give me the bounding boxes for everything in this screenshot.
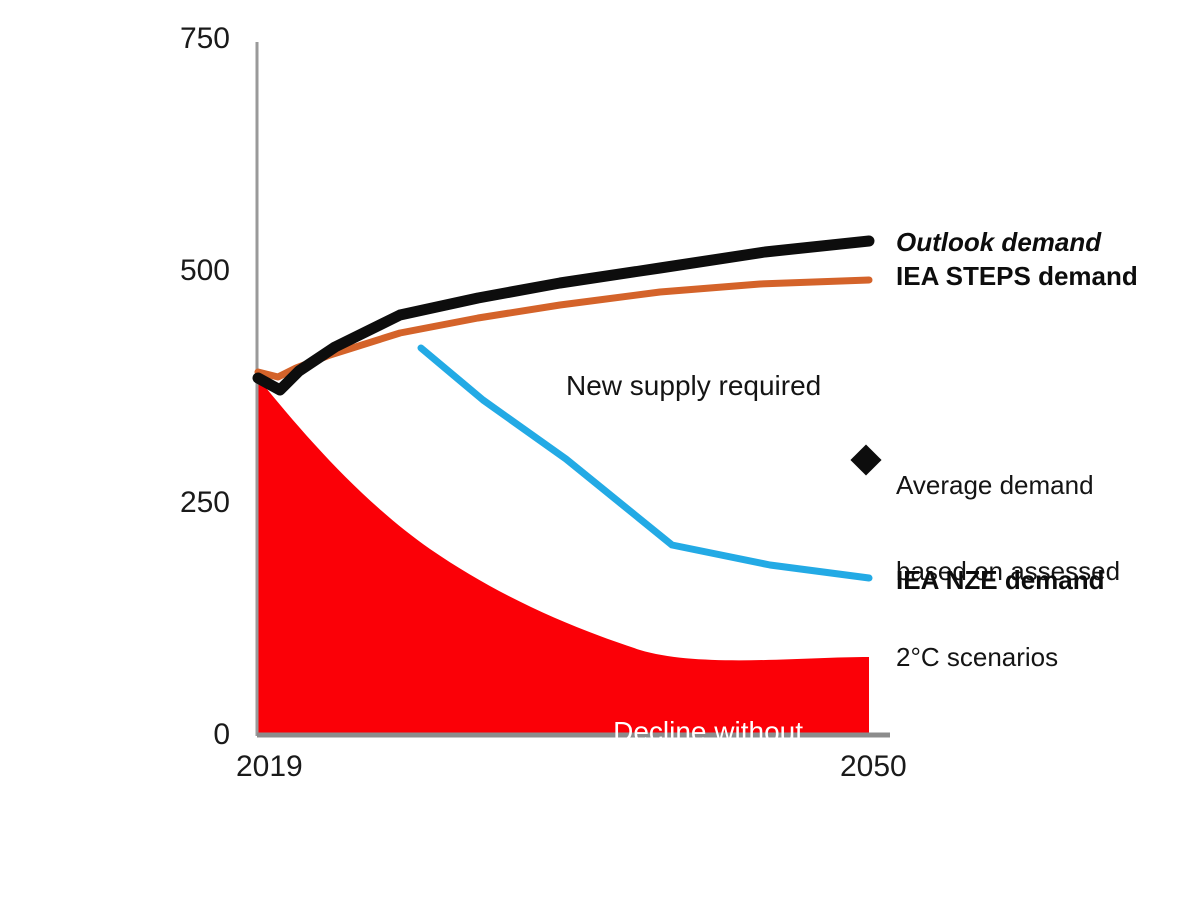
legend-item-outlook-demand: Outlook demand <box>896 228 1101 257</box>
annotation-decline-line-2: investment <box>598 810 803 841</box>
y-axis-tick-500: 500 <box>110 256 230 286</box>
legend-avg-line-3: 2°C scenarios <box>896 643 1120 672</box>
line-outlook-demand <box>258 241 869 390</box>
annotation-decline-line-1: Decline without <box>598 716 803 747</box>
chart-container: 750 500 250 0 2019 2050 New supply requi… <box>0 0 1200 800</box>
y-axis-tick-750: 750 <box>110 24 230 54</box>
annotation-decline-without-investment: Decline without investment <box>598 653 803 904</box>
y-axis-tick-250: 250 <box>110 488 230 518</box>
diamond-marker-icon <box>850 444 881 475</box>
x-axis-tick-2050: 2050 <box>840 752 907 782</box>
x-axis-tick-2019: 2019 <box>236 752 303 782</box>
legend-avg-line-1: Average demand <box>896 471 1120 500</box>
y-axis-tick-0: 0 <box>110 720 230 750</box>
annotation-new-supply-required: New supply required <box>566 370 821 401</box>
legend-item-iea-steps-demand: IEA STEPS demand <box>896 262 1138 291</box>
legend-item-iea-nze-demand: IEA NZE demand <box>896 566 1105 595</box>
line-iea-steps-demand <box>258 280 869 377</box>
